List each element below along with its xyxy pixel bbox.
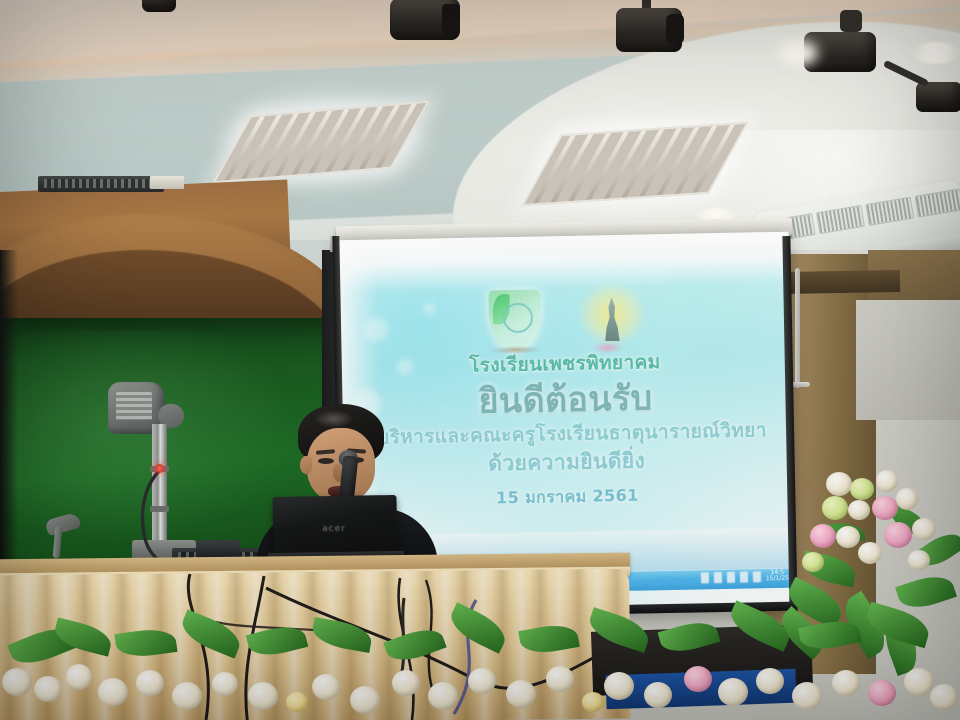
speaker-ear	[300, 456, 312, 474]
document-camera-buttons[interactable]	[44, 179, 156, 188]
stage-spotlight-5	[916, 76, 960, 116]
taskbar-system-tray[interactable]: 14:5 15/1/25	[701, 570, 789, 584]
tray-icon-4[interactable]	[740, 571, 748, 582]
document-camera-label-plate	[150, 176, 184, 189]
left-wall-shadow	[0, 250, 18, 590]
recessed-downlight-3	[910, 42, 960, 64]
screenshot-root: โรงเรียนเพชรพิทยาคม ยินดีต้อนรับ ผู้บริห…	[0, 0, 960, 720]
gooseneck-mic-led	[155, 464, 164, 473]
stage-spotlight-4	[800, 18, 890, 78]
stage-spotlight-3	[614, 4, 690, 56]
acer-logo: acer	[317, 524, 351, 533]
tray-icon-2[interactable]	[714, 572, 722, 583]
front-flower-arrangement	[0, 620, 960, 720]
stupa-emblem-logo	[584, 287, 639, 352]
tray-icon-5[interactable]	[753, 571, 761, 582]
school-crest-logo	[488, 289, 541, 352]
speaker-eye-left	[318, 458, 334, 464]
tray-icon-1[interactable]	[701, 572, 709, 583]
wall-conduit	[795, 268, 800, 388]
stage-spotlight-2	[386, 0, 468, 40]
tray-icon-3[interactable]	[727, 572, 735, 583]
speaker-hair-highlight	[314, 410, 354, 428]
stage-spotlight-1	[140, 0, 184, 16]
right-wall-plaster-panel	[856, 300, 960, 420]
document-camera-lens-panel	[116, 392, 152, 420]
